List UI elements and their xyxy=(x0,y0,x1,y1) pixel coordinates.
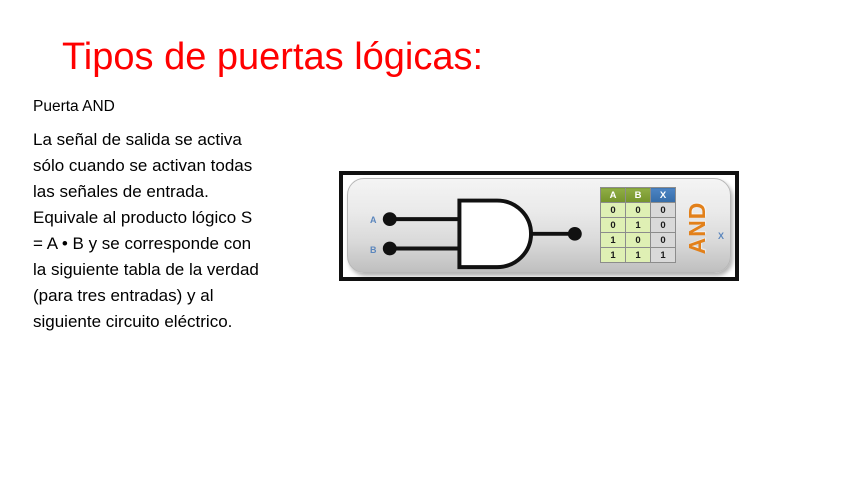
and-gate-figure: A B X A B X xyxy=(339,171,739,281)
truth-table-header-a: A xyxy=(601,188,626,203)
truth-table-header-b: B xyxy=(626,188,651,203)
body-heading: Puerta AND xyxy=(33,96,261,118)
truth-cell-b: 1 xyxy=(626,218,651,233)
truth-cell-b: 1 xyxy=(626,248,651,263)
truth-table-header-row: A B X xyxy=(601,188,676,203)
gate-caption-label: AND xyxy=(666,197,728,259)
body-paragraph: La señal de salida se activa sólo cuando… xyxy=(33,127,261,335)
truth-table: A B X 0 0 0 0 1 0 1 0 xyxy=(600,187,676,263)
table-row: 0 0 0 xyxy=(601,203,676,218)
page-title: Tipos de puertas lógicas: xyxy=(62,34,483,80)
truth-cell-b: 0 xyxy=(626,233,651,248)
truth-cell-a: 1 xyxy=(601,233,626,248)
gate-caption: AND xyxy=(666,197,728,259)
table-row: 1 0 0 xyxy=(601,233,676,248)
truth-cell-b: 0 xyxy=(626,203,651,218)
body-text-column: Puerta AND La señal de salida se activa … xyxy=(33,96,261,335)
table-row: 1 1 1 xyxy=(601,248,676,263)
figure-inner-panel: A B X A B X xyxy=(347,178,731,273)
truth-cell-a: 1 xyxy=(601,248,626,263)
truth-cell-a: 0 xyxy=(601,203,626,218)
table-row: 0 1 0 xyxy=(601,218,676,233)
truth-cell-a: 0 xyxy=(601,218,626,233)
